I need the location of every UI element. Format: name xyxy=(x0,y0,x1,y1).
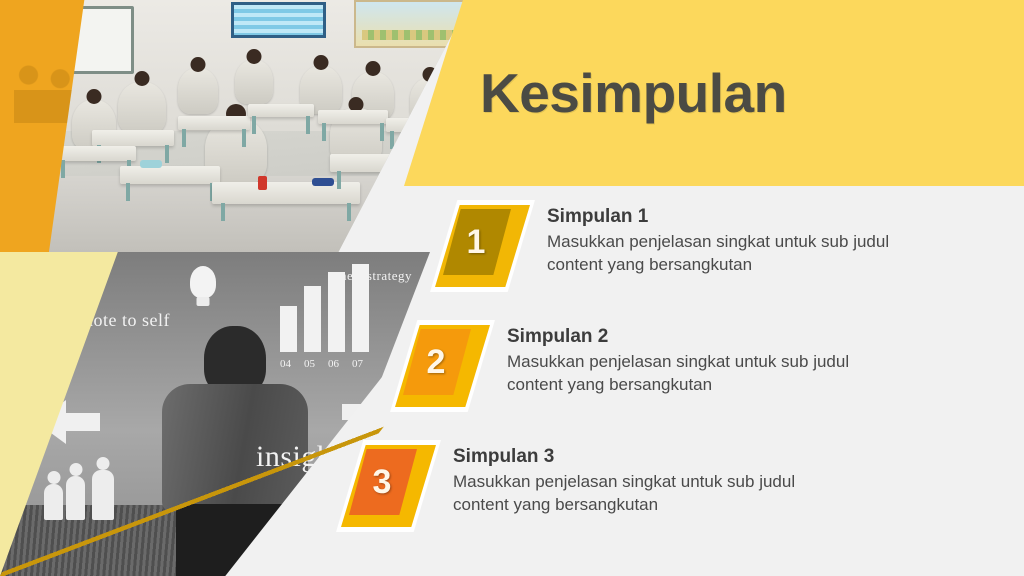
badge-number: 2 xyxy=(427,345,446,379)
item-heading: Simpulan 3 xyxy=(453,446,825,468)
item-body: Masukkan penjelasan singkat untuk sub ju… xyxy=(547,231,919,276)
list-item[interactable]: 2 Simpulan 2 Masukkan penjelasan singkat… xyxy=(390,320,879,412)
badge-number: 1 xyxy=(467,225,486,259)
item-heading: Simpulan 1 xyxy=(547,206,919,228)
step-badge-2: 2 xyxy=(390,320,495,412)
slide: 0405 0607 note to self new strategy insi… xyxy=(0,0,1024,576)
item-body: Masukkan penjelasan singkat untuk sub ju… xyxy=(453,471,825,516)
list-item[interactable]: 3 Simpulan 3 Masukkan penjelasan singkat… xyxy=(336,440,825,532)
item-heading: Simpulan 2 xyxy=(507,326,879,348)
window-icon xyxy=(231,2,326,38)
step-badge-3: 3 xyxy=(336,440,441,532)
list-item[interactable]: 1 Simpulan 1 Masukkan penjelasan singkat… xyxy=(430,200,919,292)
step-badge-1: 1 xyxy=(430,200,535,292)
page-title: Kesimpulan xyxy=(404,0,964,186)
badge-number: 3 xyxy=(373,465,392,499)
item-body: Masukkan penjelasan singkat untuk sub ju… xyxy=(507,351,879,396)
conclusion-list: 1 Simpulan 1 Masukkan penjelasan singkat… xyxy=(0,186,1024,576)
